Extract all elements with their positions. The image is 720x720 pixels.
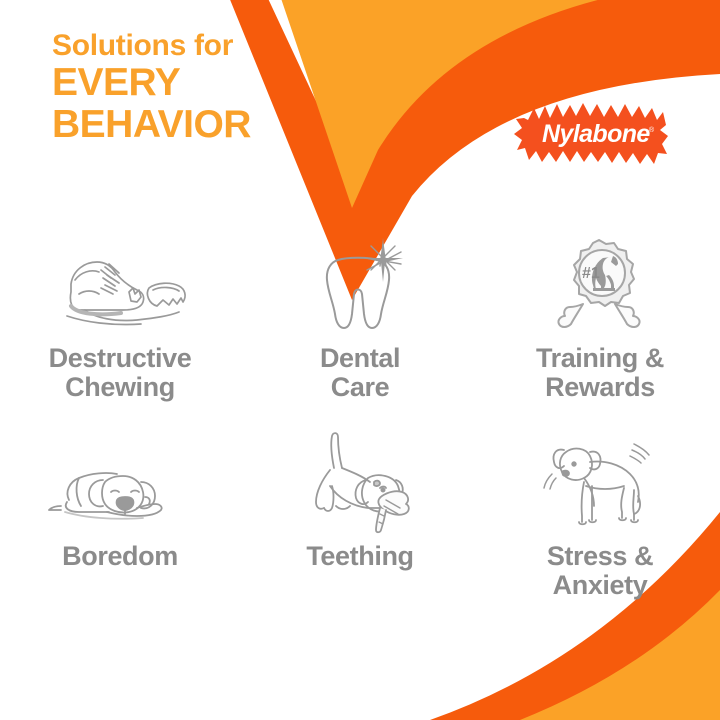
chewed-shoe-icon	[45, 238, 195, 336]
solution-teething[interactable]: Teething	[240, 438, 480, 571]
caption-line: Care	[320, 373, 400, 402]
solution-caption: Teething	[306, 542, 413, 571]
caption-line: Training &	[536, 344, 664, 373]
solution-boredom[interactable]: Boredom	[0, 438, 240, 571]
caption-line: Dental	[320, 344, 400, 373]
solution-caption: Dental Care	[320, 344, 400, 402]
sparkling-tooth-icon	[305, 238, 415, 336]
solution-caption: Boredom	[62, 542, 178, 571]
nylabone-logo: Nylabone ®	[512, 92, 676, 174]
logo-wordmark: Nylabone	[542, 120, 650, 148]
headline-line-1: Solutions for	[52, 30, 382, 62]
solution-training-rewards[interactable]: #1 Training & Rewards	[480, 238, 720, 402]
headline-line-3: BEHAVIOR	[52, 104, 382, 145]
logo-trademark-symbol: ®	[649, 126, 655, 134]
caption-line: Stress &	[547, 542, 653, 571]
caption-line: Destructive	[49, 344, 192, 373]
caption-line: Teething	[306, 542, 413, 571]
rosette-rank-text: #1	[582, 265, 600, 282]
caption-line: Boredom	[62, 542, 178, 571]
poster-canvas: Solutions for EVERY BEHAVIOR Nylabone ®	[0, 0, 720, 720]
puppy-chewing-bone-icon	[300, 438, 420, 534]
solution-caption: Destructive Chewing	[49, 344, 192, 402]
solution-stress-anxiety[interactable]: Stress & Anxiety	[480, 438, 720, 600]
caption-line: Anxiety	[547, 571, 653, 600]
award-rosette-dog-icon: #1	[545, 238, 655, 336]
headline-block: Solutions for EVERY BEHAVIOR	[52, 30, 382, 145]
solution-destructive-chewing[interactable]: Destructive Chewing	[0, 238, 240, 402]
anxious-shaking-dog-icon	[540, 438, 660, 534]
solution-caption: Stress & Anxiety	[547, 542, 653, 600]
caption-line: Chewing	[49, 373, 192, 402]
headline-line-2: EVERY	[52, 62, 382, 103]
solution-caption: Training & Rewards	[536, 344, 664, 402]
solution-dental-care[interactable]: Dental Care	[240, 238, 480, 402]
solutions-grid: Destructive Chewing	[0, 238, 720, 628]
lying-bored-dog-icon	[45, 438, 195, 534]
caption-line: Rewards	[536, 373, 664, 402]
